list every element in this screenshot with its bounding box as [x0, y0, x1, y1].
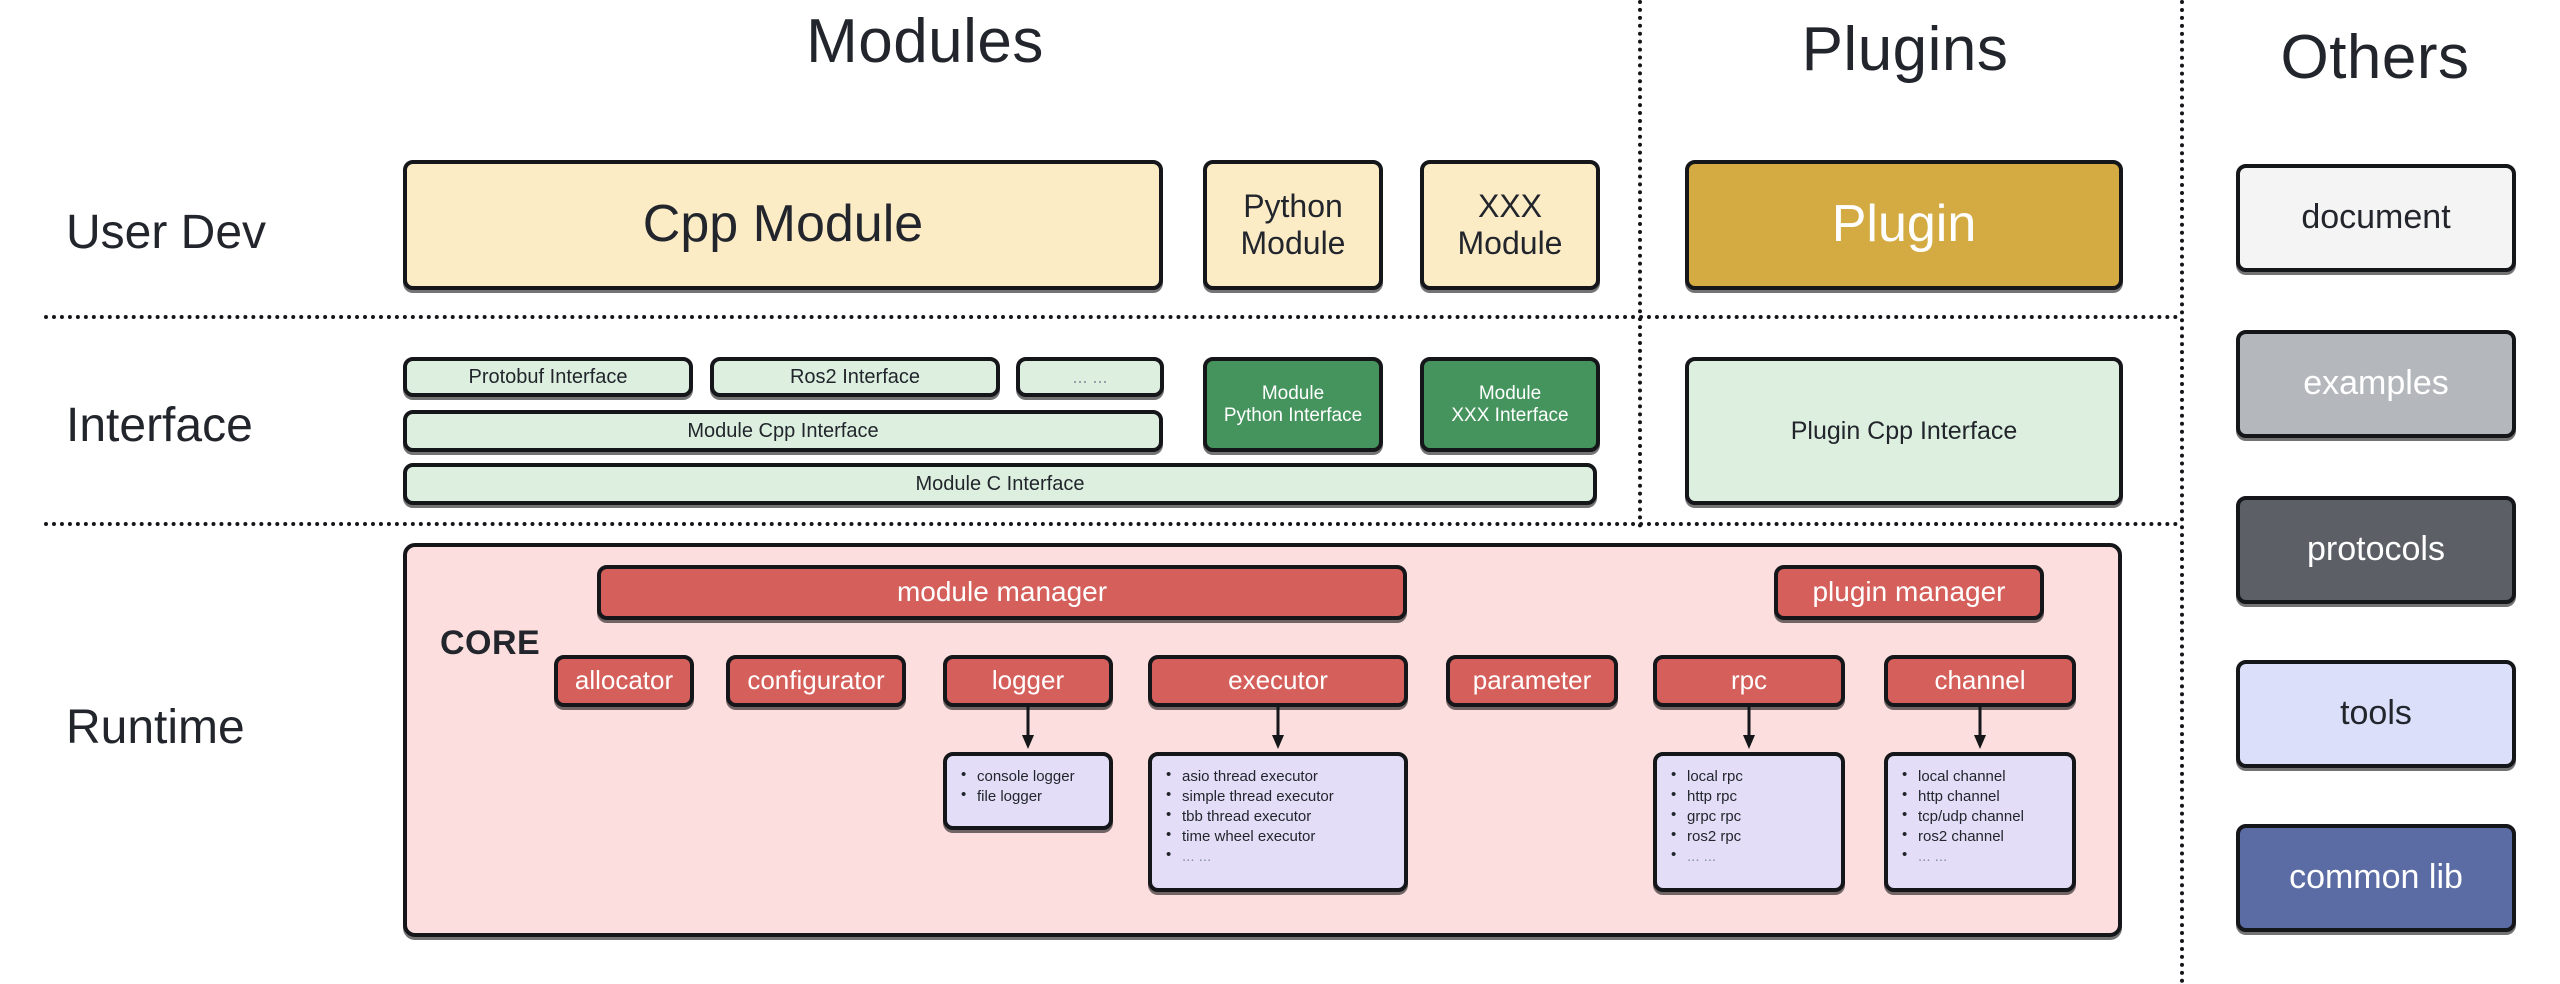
arrow-logger [1013, 707, 1043, 752]
module-cpp-interface-box[interactable]: Module Cpp Interface [403, 410, 1163, 452]
rpc-details-list: local rpc http rpc grpc rpc ros2 rpc ...… [1671, 766, 1831, 866]
python-module-box[interactable]: Python Module [1203, 160, 1383, 290]
xxx-module-label-line2: Module [1458, 225, 1563, 262]
ros2-interface-box[interactable]: Ros2 Interface [710, 357, 1000, 397]
cpp-module-box[interactable]: Cpp Module [403, 160, 1163, 290]
divider-userdev-interface [44, 315, 2180, 319]
logger-details-box: console logger file logger [943, 752, 1113, 830]
plugin-box[interactable]: Plugin [1685, 160, 2123, 290]
divider-plugins-others [2180, 0, 2184, 984]
channel-details-list: local channel http channel tcp/udp chann… [1902, 766, 2062, 866]
others-document-label: document [2301, 198, 2450, 237]
logger-label: logger [992, 666, 1064, 696]
module-manager-box[interactable]: module manager [597, 565, 1407, 620]
channel-details-box: local channel http channel tcp/udp chann… [1884, 752, 2076, 892]
protobuf-interface-label: Protobuf Interface [469, 366, 628, 389]
parameter-box[interactable]: parameter [1446, 655, 1618, 707]
list-item: ros2 channel [1902, 826, 2062, 846]
others-examples-label: examples [2303, 364, 2449, 403]
module-c-interface-label: Module C Interface [916, 473, 1085, 496]
list-item: ... ... [1671, 846, 1831, 866]
plugin-manager-box[interactable]: plugin manager [1774, 565, 2044, 620]
list-item: tbb thread executor [1166, 806, 1394, 826]
logger-box[interactable]: logger [943, 655, 1113, 707]
row-label-user-dev: User Dev [66, 205, 266, 260]
arrow-rpc [1734, 707, 1764, 752]
module-python-interface-label-line1: Module [1262, 383, 1324, 405]
xxx-module-label-line1: XXX [1478, 188, 1542, 225]
allocator-label: allocator [575, 666, 673, 696]
ros2-interface-label: Ros2 Interface [790, 366, 920, 389]
logger-details-list: console logger file logger [961, 766, 1099, 806]
plugin-cpp-interface-label: Plugin Cpp Interface [1791, 417, 2018, 446]
list-item: http rpc [1671, 786, 1831, 806]
list-item: asio thread executor [1166, 766, 1394, 786]
rpc-box[interactable]: rpc [1653, 655, 1845, 707]
channel-label: channel [1934, 666, 2025, 696]
others-tools-label: tools [2340, 694, 2412, 733]
plugin-cpp-interface-box[interactable]: Plugin Cpp Interface [1685, 357, 2123, 505]
configurator-label: configurator [747, 666, 884, 696]
arrow-channel [1965, 707, 1995, 752]
protobuf-interface-box[interactable]: Protobuf Interface [403, 357, 693, 397]
others-tools-box[interactable]: tools [2236, 660, 2516, 768]
module-manager-label: module manager [897, 576, 1107, 608]
plugin-label: Plugin [1832, 195, 1977, 255]
list-item: simple thread executor [1166, 786, 1394, 806]
module-python-interface-label-line2: Python Interface [1224, 405, 1362, 427]
list-item: local rpc [1671, 766, 1831, 786]
others-document-box[interactable]: document [2236, 164, 2516, 272]
list-item: ... ... [1902, 846, 2062, 866]
module-xxx-interface-label-line2: XXX Interface [1451, 405, 1568, 427]
row-label-interface: Interface [66, 398, 253, 453]
list-item: ... ... [1166, 846, 1394, 866]
row-label-runtime: Runtime [66, 700, 245, 755]
executor-details-list: asio thread executor simple thread execu… [1166, 766, 1394, 866]
list-item: console logger [961, 766, 1099, 786]
module-python-interface-box[interactable]: Module Python Interface [1203, 357, 1383, 452]
column-title-others: Others [2210, 22, 2540, 93]
python-module-label-line2: Module [1241, 225, 1346, 262]
executor-box[interactable]: executor [1148, 655, 1408, 707]
arrow-executor [1263, 707, 1293, 752]
column-title-modules: Modules [760, 6, 1090, 77]
list-item: ros2 rpc [1671, 826, 1831, 846]
rpc-label: rpc [1731, 666, 1767, 696]
core-label: CORE [440, 624, 540, 663]
module-cpp-interface-label: Module Cpp Interface [687, 420, 878, 443]
module-c-interface-box[interactable]: Module C Interface [403, 463, 1597, 505]
rpc-details-box: local rpc http rpc grpc rpc ros2 rpc ...… [1653, 752, 1845, 892]
divider-modules-plugins [1638, 0, 1642, 528]
xxx-module-box[interactable]: XXX Module [1420, 160, 1600, 290]
configurator-box[interactable]: configurator [726, 655, 906, 707]
list-item: tcp/udp channel [1902, 806, 2062, 826]
list-item: local channel [1902, 766, 2062, 786]
others-examples-box[interactable]: examples [2236, 330, 2516, 438]
module-xxx-interface-label-line1: Module [1479, 383, 1541, 405]
others-protocols-box[interactable]: protocols [2236, 496, 2516, 604]
extra-interface-box[interactable]: ... ... [1016, 357, 1164, 397]
others-common-lib-box[interactable]: common lib [2236, 824, 2516, 932]
channel-box[interactable]: channel [1884, 655, 2076, 707]
architecture-diagram: Modules Plugins Others User Dev Interfac… [0, 0, 2560, 984]
list-item: http channel [1902, 786, 2062, 806]
others-protocols-label: protocols [2307, 530, 2445, 569]
list-item: time wheel executor [1166, 826, 1394, 846]
extra-interface-label: ... ... [1072, 367, 1107, 388]
executor-details-box: asio thread executor simple thread execu… [1148, 752, 1408, 892]
list-item: grpc rpc [1671, 806, 1831, 826]
divider-interface-runtime [44, 522, 2180, 526]
column-title-plugins: Plugins [1740, 14, 2070, 85]
others-common-lib-label: common lib [2289, 858, 2463, 897]
parameter-label: parameter [1473, 666, 1592, 696]
module-xxx-interface-box[interactable]: Module XXX Interface [1420, 357, 1600, 452]
executor-label: executor [1228, 666, 1328, 696]
plugin-manager-label: plugin manager [1812, 576, 2005, 608]
allocator-box[interactable]: allocator [554, 655, 694, 707]
cpp-module-label: Cpp Module [643, 195, 923, 255]
python-module-label-line1: Python [1243, 188, 1343, 225]
list-item: file logger [961, 786, 1099, 806]
